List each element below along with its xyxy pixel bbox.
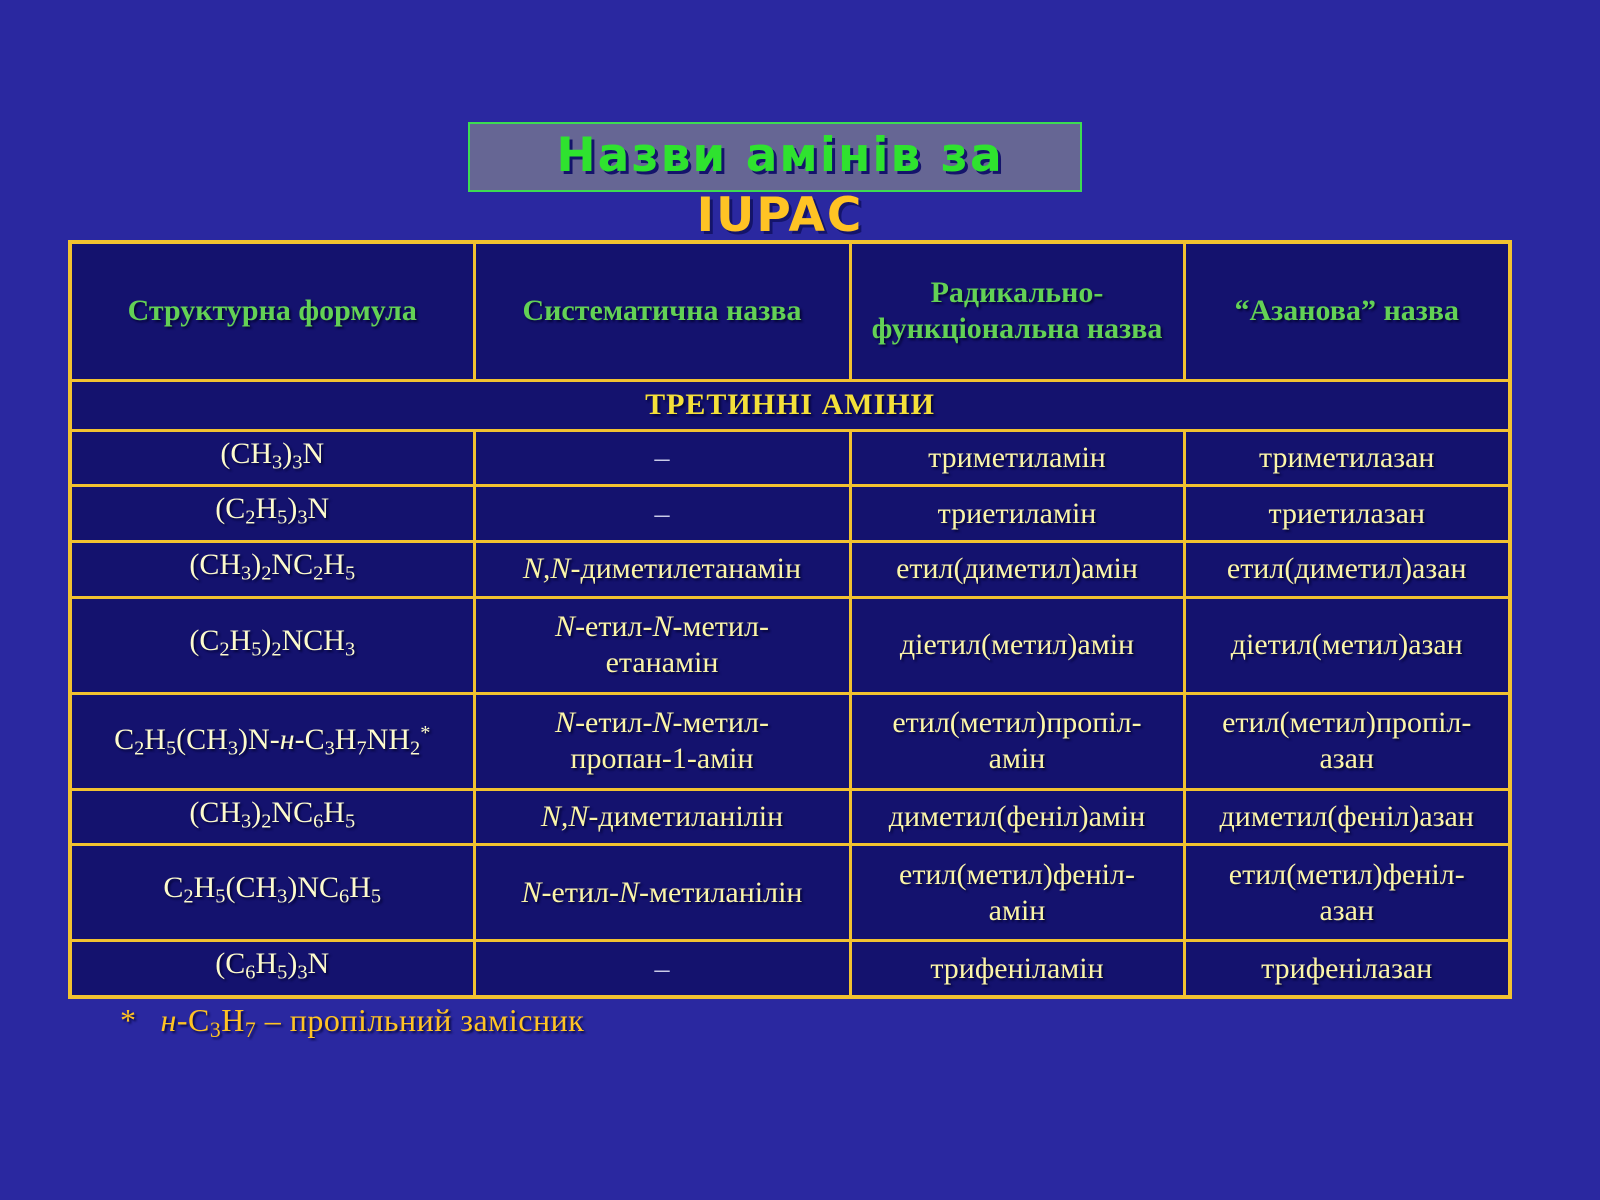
cell-azane-name: триметилазан [1184, 430, 1510, 486]
column-header-systematic-name: Систематична назва [474, 242, 850, 380]
section-header-row: ТРЕТИННІ АМІНИ [70, 380, 1510, 430]
amines-nomenclature-table: Структурна формула Систематична назва Ра… [68, 240, 1512, 999]
cell-structural-formula: (CH3)2NC6H5 [70, 789, 474, 845]
cell-structural-formula: (CH3)2NC2H5 [70, 541, 474, 597]
section-title-tertiary-amines: ТРЕТИННІ АМІНИ [70, 380, 1510, 430]
footnote-text: н-C3H7 – пропільний замісник [161, 1002, 585, 1038]
cell-radical-functional-name: етил(метил)пропіл-амін [850, 693, 1184, 789]
cell-systematic-name: N-етил-N-метил-пропан-1-амін [474, 693, 850, 789]
title-box [468, 122, 1082, 192]
cell-radical-functional-name: диметил(феніл)амін [850, 789, 1184, 845]
cell-azane-name: етил(метил)пропіл-азан [1184, 693, 1510, 789]
column-header-radical-functional-name: Радикально-функціональна назва [850, 242, 1184, 380]
table-row: C2H5(CH3)NC6H5 N-етил-N-метиланілін етил… [70, 845, 1510, 941]
title-line-2: IUPAC [380, 186, 1180, 246]
cell-systematic-name: N-етил-N-метиланілін [474, 845, 850, 941]
column-header-azane-name: “Азанова” назва [1184, 242, 1510, 380]
column-header-structural-formula: Структурна формула [70, 242, 474, 380]
table-row: (C6H5)3N – трифеніламін трифенілазан [70, 941, 1510, 997]
cell-azane-name: етил(диметил)азан [1184, 541, 1510, 597]
cell-systematic-name: N,N-диметилетанамін [474, 541, 850, 597]
cell-radical-functional-name: етил(метил)феніл-амін [850, 845, 1184, 941]
cell-azane-name: діетил(метил)азан [1184, 597, 1510, 693]
cell-azane-name: трифенілазан [1184, 941, 1510, 997]
cell-structural-formula: C2H5(CH3)NC6H5 [70, 845, 474, 941]
cell-systematic-name: – [474, 430, 850, 486]
cell-azane-name: триетилазан [1184, 486, 1510, 542]
cell-radical-functional-name: трифеніламін [850, 941, 1184, 997]
cell-systematic-name: – [474, 941, 850, 997]
table-header-row: Структурна формула Систематична назва Ра… [70, 242, 1510, 380]
cell-systematic-name: – [474, 486, 850, 542]
cell-structural-formula: C2H5(CH3)N-н-C3H7NH2* [70, 693, 474, 789]
cell-azane-name: диметил(феніл)азан [1184, 789, 1510, 845]
column-header-label: Систематична назва [522, 294, 801, 327]
table-row: (C2H5)2NCH3 N-етил-N-метил-етанамін діет… [70, 597, 1510, 693]
table-row: (CH3)2NC6H5 N,N-диметиланілін диметил(фе… [70, 789, 1510, 845]
column-header-label: “Азанова” назва [1234, 294, 1459, 327]
cell-structural-formula: (C6H5)3N [70, 941, 474, 997]
cell-radical-functional-name: діетил(метил)амін [850, 597, 1184, 693]
column-header-label: Структурна формула [128, 294, 417, 327]
cell-structural-formula: (C2H5)2NCH3 [70, 597, 474, 693]
cell-azane-name: етил(метил)феніл-азан [1184, 845, 1510, 941]
cell-structural-formula: (C2H5)3N [70, 486, 474, 542]
cell-systematic-name: N,N-диметиланілін [474, 789, 850, 845]
footnote: *н-C3H7 – пропільний замісник [120, 1002, 584, 1043]
cell-radical-functional-name: триетиламін [850, 486, 1184, 542]
table-row: (C2H5)3N – триетиламін триетилазан [70, 486, 1510, 542]
table-row: (CH3)2NC2H5 N,N-диметилетанамін етил(дим… [70, 541, 1510, 597]
footnote-marker: * [120, 1002, 137, 1038]
cell-systematic-name: N-етил-N-метил-етанамін [474, 597, 850, 693]
table-row: (CH3)3N – триметиламін триметилазан [70, 430, 1510, 486]
cell-radical-functional-name: етил(диметил)амін [850, 541, 1184, 597]
cell-radical-functional-name: триметиламін [850, 430, 1184, 486]
column-header-label: Радикально-функціональна назва [872, 276, 1163, 345]
cell-structural-formula: (CH3)3N [70, 430, 474, 486]
table-row: C2H5(CH3)N-н-C3H7NH2* N-етил-N-метил-про… [70, 693, 1510, 789]
